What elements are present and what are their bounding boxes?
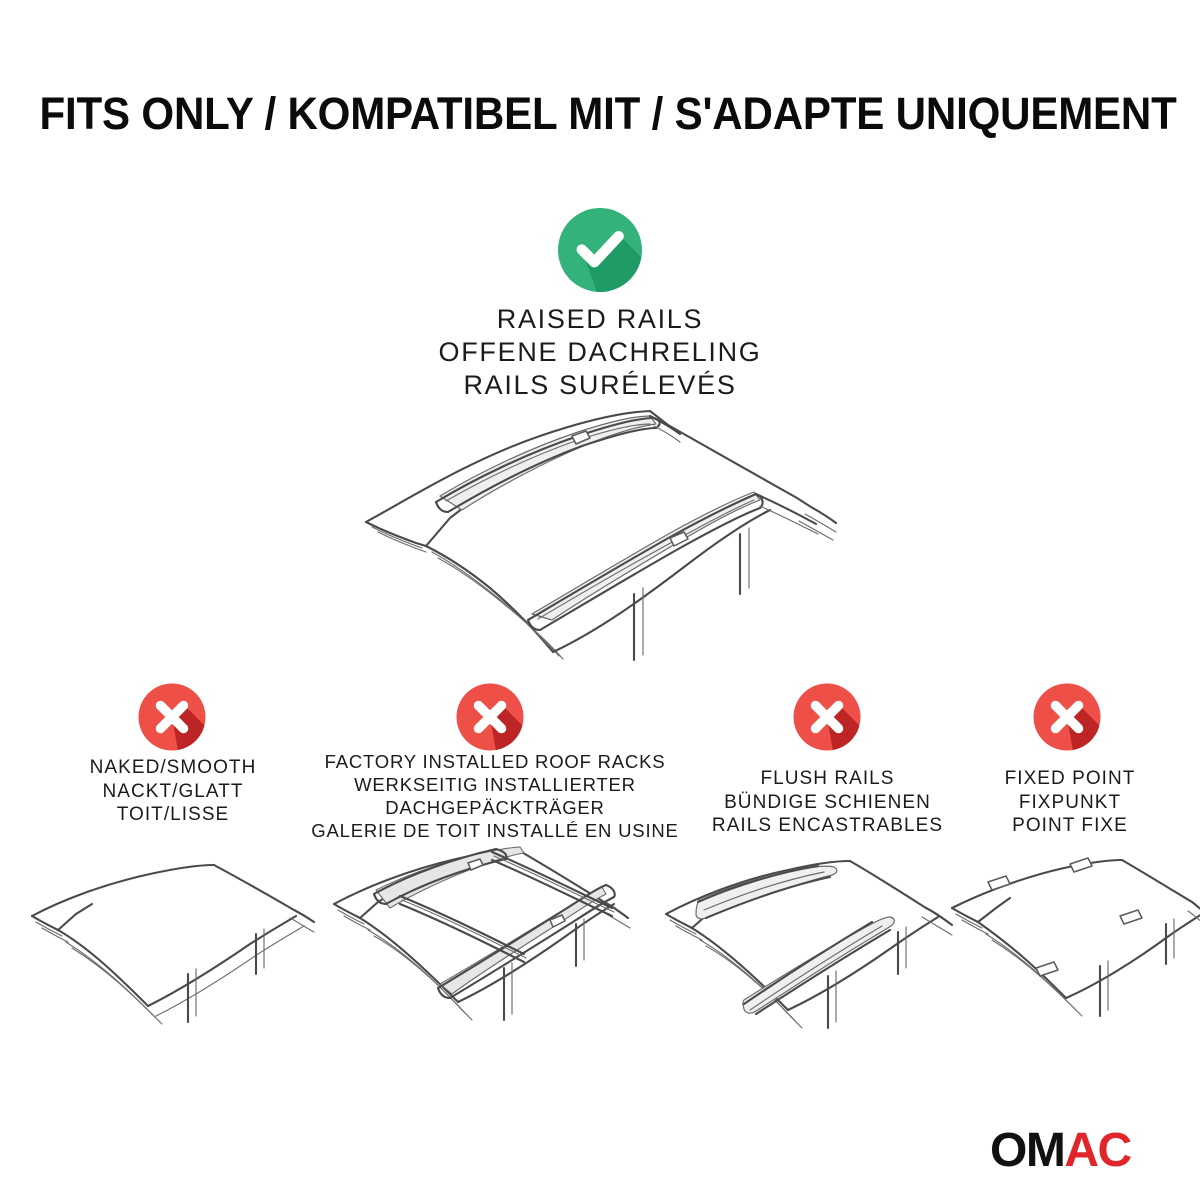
logo-text-dark: OM bbox=[990, 1124, 1064, 1177]
compatible-label: RAISED RAILS OFFENE DACHRELING RAILS SUR… bbox=[300, 303, 900, 402]
label-line-2: FIXPUNKT bbox=[950, 791, 1190, 815]
check-circle-icon bbox=[557, 207, 643, 293]
cross-circle-icon bbox=[1033, 683, 1101, 751]
incompatible-label-flush-rails: FLUSH RAILS BÜNDIGE SCHIENEN RAILS ENCAS… bbox=[680, 767, 975, 838]
cross-circle-icon bbox=[138, 683, 206, 751]
page-title-text: FITS ONLY / KOMPATIBEL MIT / S'ADAPTE UN… bbox=[40, 88, 1177, 140]
label-line-3: POINT FIXE bbox=[950, 814, 1190, 838]
compatible-label-line-2: OFFENE DACHRELING bbox=[300, 336, 900, 369]
car-roof-raised-rails-illustration bbox=[350, 398, 856, 684]
logo-text-red: AC bbox=[1064, 1124, 1130, 1177]
label-line-2: NACKT/GLATT bbox=[28, 780, 318, 804]
car-roof-factory-installed-racks-illustration bbox=[320, 842, 656, 1067]
incompatible-label-naked-smooth: NAKED/SMOOTH NACKT/GLATT TOIT/LISSE bbox=[28, 756, 318, 827]
label-line-1: FIXED POINT bbox=[950, 767, 1190, 791]
label-line-1: FACTORY INSTALLED ROOF RACKS bbox=[300, 750, 690, 773]
label-line-3: DACHGEPÄCKTRÄGER bbox=[300, 796, 690, 819]
label-line-1: NAKED/SMOOTH bbox=[28, 756, 318, 780]
page-title: FITS ONLY / KOMPATIBEL MIT / S'ADAPTE UN… bbox=[0, 88, 1200, 140]
label-line-2: BÜNDIGE SCHIENEN bbox=[680, 791, 975, 815]
car-roof-flush-rails-illustration bbox=[652, 852, 974, 1064]
cross-circle-icon bbox=[793, 683, 861, 751]
car-roof-naked-smooth-illustration bbox=[18, 852, 318, 1067]
label-line-4: GALERIE DE TOIT INSTALLÉ EN USINE bbox=[300, 819, 690, 842]
car-roof-fixed-point-illustration bbox=[940, 852, 1200, 1057]
label-line-3: RAILS ENCASTRABLES bbox=[680, 814, 975, 838]
incompatible-label-fixed-point: FIXED POINT FIXPUNKT POINT FIXE bbox=[950, 767, 1190, 838]
omac-logo: OMAC bbox=[990, 1127, 1150, 1175]
incompatible-label-factory-racks: FACTORY INSTALLED ROOF RACKS WERKSEITIG … bbox=[300, 750, 690, 842]
label-line-1: FLUSH RAILS bbox=[680, 767, 975, 791]
label-line-2: WERKSEITIG INSTALLIERTER bbox=[300, 773, 690, 796]
cross-circle-icon bbox=[456, 683, 524, 751]
compatible-label-line-1: RAISED RAILS bbox=[300, 303, 900, 336]
label-line-3: TOIT/LISSE bbox=[28, 803, 318, 827]
